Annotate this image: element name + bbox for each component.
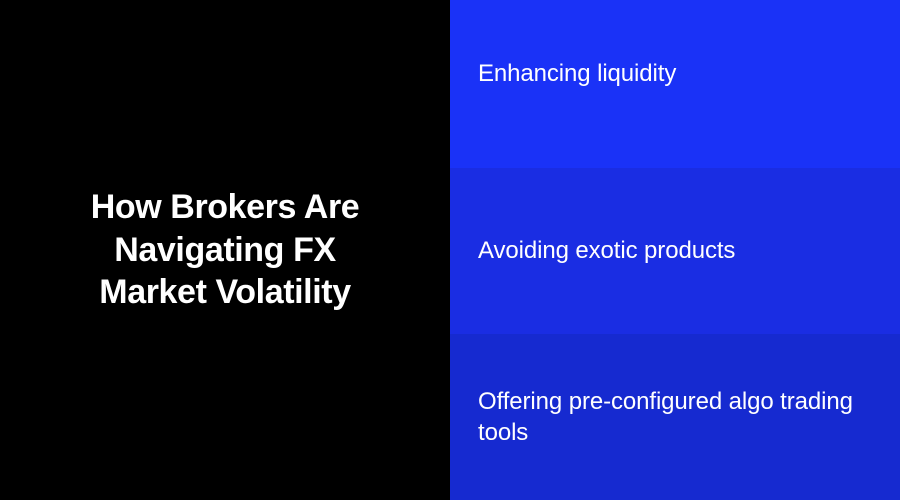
title-panel: How Brokers Are Navigating FX Market Vol… xyxy=(0,0,450,500)
point-row-1[interactable]: Enhancing liquidity xyxy=(450,0,900,168)
point-row-2[interactable]: Avoiding exotic products xyxy=(450,168,900,334)
point-label-1: Enhancing liquidity xyxy=(478,58,676,89)
points-panel: Enhancing liquidity Avoiding exotic prod… xyxy=(450,0,900,500)
point-label-2: Avoiding exotic products xyxy=(478,235,735,266)
point-row-3[interactable]: Offering pre-configured algo trading too… xyxy=(450,334,900,500)
page-title: How Brokers Are Navigating FX Market Vol… xyxy=(91,186,360,314)
slide-root: How Brokers Are Navigating FX Market Vol… xyxy=(0,0,900,500)
point-label-3: Offering pre-configured algo trading too… xyxy=(478,386,876,448)
